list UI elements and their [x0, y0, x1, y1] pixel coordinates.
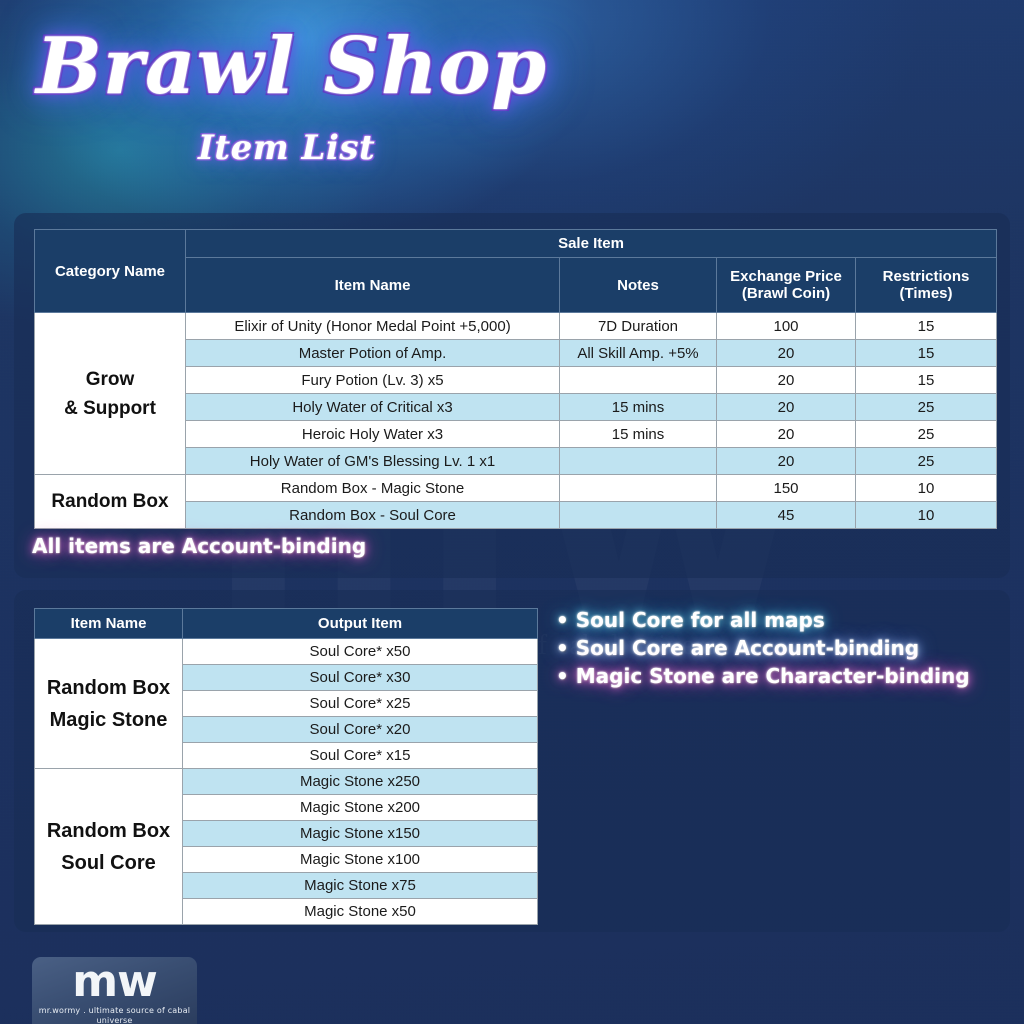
cell-output-item: Magic Stone x75 [183, 873, 538, 899]
header-exchange-price: Exchange Price (Brawl Coin) [717, 258, 856, 313]
category-cell: Random BoxSoul Core [35, 769, 183, 925]
cell-notes: All Skill Amp. +5% [560, 340, 717, 367]
header-output-item-name: Item Name [35, 609, 183, 639]
category-label-line2: Soul Core [35, 847, 182, 879]
table-row: Random BoxMagic StoneSoul Core* x50 [35, 639, 538, 665]
cell-exchange-price: 20 [717, 448, 856, 475]
output-item-table-body: Random BoxMagic StoneSoul Core* x50Soul … [35, 639, 538, 925]
logo-tagline: mr.wormy . ultimate source of cabal univ… [32, 1006, 197, 1024]
category-cell: Random Box [35, 475, 186, 529]
header-exchange-price-line1: Exchange Price [717, 268, 855, 285]
cell-output-item: Soul Core* x30 [183, 665, 538, 691]
cell-item-name: Master Potion of Amp. [186, 340, 560, 367]
cell-output-item: Soul Core* x15 [183, 743, 538, 769]
cell-item-name: Random Box - Soul Core [186, 502, 560, 529]
cell-output-item: Magic Stone x100 [183, 847, 538, 873]
header-restrictions: Restrictions (Times) [856, 258, 997, 313]
output-note-bullet: • Magic Stone are Character-binding [556, 662, 986, 690]
cell-exchange-price: 150 [717, 475, 856, 502]
page-title: Brawl Shop [36, 24, 547, 110]
sale-item-table-body: Grow& SupportElixir of Unity (Honor Meda… [35, 313, 997, 529]
cell-restrictions: 10 [856, 502, 997, 529]
cell-restrictions: 25 [856, 448, 997, 475]
category-label-line1: Random Box [35, 487, 185, 516]
output-notes-list: • Soul Core for all maps• Soul Core are … [556, 606, 986, 690]
sale-item-table: Category Name Sale Item Item Name Notes … [34, 229, 997, 529]
category-label-line1: Grow [35, 365, 185, 394]
category-cell: Random BoxMagic Stone [35, 639, 183, 769]
cell-notes: 7D Duration [560, 313, 717, 340]
header-restrictions-line1: Restrictions [856, 268, 996, 285]
cell-item-name: Heroic Holy Water x3 [186, 421, 560, 448]
cell-output-item: Magic Stone x50 [183, 899, 538, 925]
header-item-name: Item Name [186, 258, 560, 313]
header-category-name: Category Name [35, 230, 186, 313]
header-exchange-price-line2: (Brawl Coin) [717, 285, 855, 302]
header-restrictions-line2: (Times) [856, 285, 996, 302]
cell-item-name: Random Box - Magic Stone [186, 475, 560, 502]
category-label-line1: Random Box [35, 815, 182, 847]
mr-wormy-logo: mw mr.wormy . ultimate source of cabal u… [32, 957, 197, 1024]
cell-exchange-price: 45 [717, 502, 856, 529]
cell-output-item: Magic Stone x250 [183, 769, 538, 795]
cell-output-item: Soul Core* x50 [183, 639, 538, 665]
header-output-item: Output Item [183, 609, 538, 639]
header-notes: Notes [560, 258, 717, 313]
table-row: Random BoxRandom Box - Magic Stone15010 [35, 475, 997, 502]
cell-item-name: Elixir of Unity (Honor Medal Point +5,00… [186, 313, 560, 340]
cell-exchange-price: 20 [717, 340, 856, 367]
cell-notes: 15 mins [560, 394, 717, 421]
cell-exchange-price: 20 [717, 367, 856, 394]
output-note-bullet: • Soul Core are Account-binding [556, 634, 986, 662]
cell-notes [560, 367, 717, 394]
cell-exchange-price: 20 [717, 394, 856, 421]
cell-output-item: Magic Stone x200 [183, 795, 538, 821]
cell-restrictions: 15 [856, 367, 997, 394]
cell-output-item: Magic Stone x150 [183, 821, 538, 847]
account-binding-note: All items are Account-binding [32, 532, 366, 560]
output-note-bullet: • Soul Core for all maps [556, 606, 986, 634]
cell-notes [560, 448, 717, 475]
cell-restrictions: 10 [856, 475, 997, 502]
cell-notes: 15 mins [560, 421, 717, 448]
cell-exchange-price: 20 [717, 421, 856, 448]
page-header: Brawl Shop Item List [0, 0, 1024, 205]
cell-restrictions: 25 [856, 394, 997, 421]
cell-item-name: Holy Water of GM's Blessing Lv. 1 x1 [186, 448, 560, 475]
cell-output-item: Soul Core* x20 [183, 717, 538, 743]
output-item-table: Item Name Output Item Random BoxMagic St… [34, 608, 538, 925]
cell-output-item: Soul Core* x25 [183, 691, 538, 717]
logo-mark: mw [32, 959, 197, 1005]
cell-exchange-price: 100 [717, 313, 856, 340]
category-label-line2: Magic Stone [35, 704, 182, 736]
cell-notes [560, 502, 717, 529]
cell-restrictions: 25 [856, 421, 997, 448]
page-subtitle: Item List [198, 128, 375, 168]
table-row: Random BoxSoul CoreMagic Stone x250 [35, 769, 538, 795]
category-label-line2: & Support [35, 394, 185, 423]
cell-restrictions: 15 [856, 313, 997, 340]
cell-notes [560, 475, 717, 502]
table-row: Grow& SupportElixir of Unity (Honor Meda… [35, 313, 997, 340]
header-sale-item-group: Sale Item [186, 230, 997, 258]
cell-restrictions: 15 [856, 340, 997, 367]
category-cell: Grow& Support [35, 313, 186, 475]
cell-item-name: Fury Potion (Lv. 3) x5 [186, 367, 560, 394]
category-label-line1: Random Box [35, 672, 182, 704]
cell-item-name: Holy Water of Critical x3 [186, 394, 560, 421]
